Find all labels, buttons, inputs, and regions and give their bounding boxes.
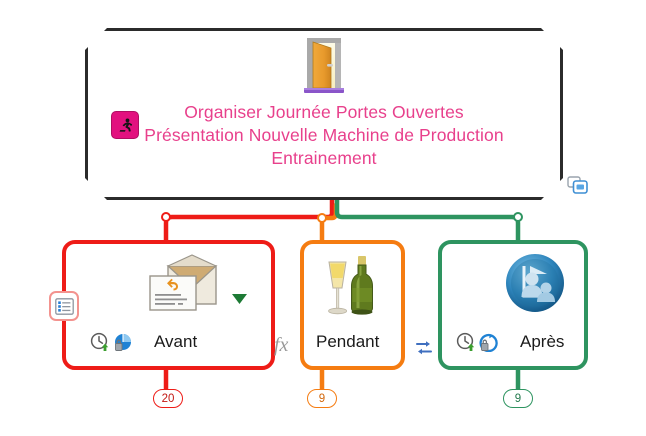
central-node-content: Organiser Journée Portes Ouvertes Présen… [85, 28, 563, 200]
champagne-icon [322, 254, 384, 320]
branch-label-pendant: Pendant [316, 332, 379, 352]
collapse-handle-pendant [318, 214, 326, 222]
count-badge-pendant[interactable]: 9 [307, 389, 337, 408]
branch-node-avant[interactable]: Avant [62, 240, 275, 370]
pie-clock-lock-icon[interactable] [112, 332, 134, 357]
triangle-down-icon[interactable] [231, 292, 248, 310]
collapse-handle-avant [162, 213, 170, 221]
central-node[interactable]: Organiser Journée Portes Ouvertes Présen… [85, 28, 563, 200]
open-door-icon [298, 36, 350, 96]
notes-list-icon[interactable] [49, 291, 79, 321]
circle-arrow-lock-icon[interactable] [478, 332, 500, 357]
clock-green-arrow-icon[interactable] [90, 332, 110, 357]
central-node-title: Organiser Journée Portes Ouvertes Présen… [144, 101, 503, 170]
avant-mini-icons [90, 332, 134, 357]
collapse-handle-apres [514, 213, 522, 221]
presentation-people-icon [504, 252, 566, 314]
fx-relation-icon[interactable]: fx [274, 334, 288, 357]
branch-label-avant: Avant [154, 332, 197, 352]
swap-arrows-icon[interactable] [413, 338, 435, 358]
branch-label-apres: Après [520, 332, 564, 352]
apres-mini-icons [456, 332, 500, 357]
count-badge-apres[interactable]: 9 [503, 389, 533, 408]
branch-node-pendant[interactable]: Pendant [300, 240, 405, 370]
duplicate-windows-icon[interactable] [567, 176, 589, 196]
branch-node-apres[interactable]: Après [438, 240, 588, 370]
clock-green-arrow-icon[interactable] [456, 332, 476, 357]
envelope-letter-icon [146, 254, 224, 316]
mindmap-canvas: Organiser Journée Portes Ouvertes Présen… [0, 0, 646, 436]
count-badge-avant[interactable]: 20 [153, 389, 183, 408]
runner-icon[interactable] [112, 112, 138, 138]
